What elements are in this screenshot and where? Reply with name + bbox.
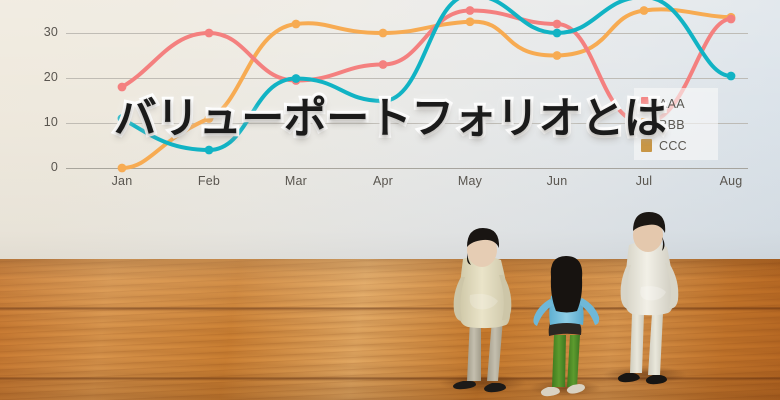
- legend-label-aaa: AAA: [659, 97, 685, 111]
- legend-item-aaa: AAA: [641, 93, 712, 114]
- legend-swatch-aaa: [641, 97, 652, 110]
- shadow-man-right: [603, 366, 687, 384]
- legend-item-ccc: CCC: [641, 135, 712, 156]
- x-tick-aug: Aug: [701, 174, 761, 188]
- legend-label-bbb: BBB: [659, 118, 685, 132]
- marker-bbb-feb: [205, 114, 214, 123]
- legend-label-ccc: CCC: [659, 139, 687, 153]
- marker-bbb-jul: [640, 6, 649, 15]
- marker-aaa-may: [466, 6, 475, 15]
- marker-aaa-apr: [379, 60, 388, 69]
- figurine-woman-center: [533, 256, 599, 396]
- marker-aaa-aug: [727, 15, 736, 24]
- figurine-man-right: [618, 212, 678, 384]
- marker-bbb-jun: [553, 51, 562, 60]
- marker-bbb-jan: [118, 164, 127, 173]
- marker-bbb-apr: [379, 29, 388, 38]
- legend-swatch-ccc: [641, 139, 652, 152]
- hair: [551, 256, 582, 313]
- chart-legend: AAA BBB CCC: [634, 88, 718, 160]
- marker-ccc-jun: [553, 29, 562, 38]
- marker-ccc-feb: [205, 146, 214, 155]
- x-tick-apr: Apr: [353, 174, 413, 188]
- figurine-man-left: [453, 228, 511, 392]
- legend-item-bbb: BBB: [641, 114, 712, 135]
- screenshot-stage: 30 20 10 0 Jan Feb Mar Apr May Jun Jul A…: [0, 0, 780, 400]
- legend-swatch-bbb: [641, 118, 652, 131]
- marker-ccc-mar: [292, 74, 301, 83]
- figurine-group: [0, 195, 780, 400]
- marker-bbb-may: [466, 17, 475, 26]
- y-tick-20: 20: [18, 70, 58, 84]
- x-tick-mar: Mar: [266, 174, 326, 188]
- x-tick-feb: Feb: [179, 174, 239, 188]
- shirt: [625, 241, 674, 315]
- x-tick-jun: Jun: [527, 174, 587, 188]
- marker-ccc-jan: [118, 114, 127, 123]
- marker-bbb-mar: [292, 20, 301, 29]
- marker-aaa-feb: [205, 29, 214, 38]
- marker-aaa-jun: [553, 20, 562, 29]
- marker-ccc-apr: [379, 97, 388, 106]
- x-tick-may: May: [440, 174, 500, 188]
- y-tick-0: 0: [18, 160, 58, 174]
- line-chart: 30 20 10 0 Jan Feb Mar Apr May Jun Jul A…: [0, 0, 780, 200]
- x-tick-jul: Jul: [614, 174, 674, 188]
- x-tick-jan: Jan: [92, 174, 152, 188]
- marker-ccc-aug: [727, 72, 736, 81]
- y-tick-10: 10: [18, 115, 58, 129]
- shadow-man-left: [439, 374, 527, 392]
- y-tick-30: 30: [18, 25, 58, 39]
- marker-aaa-jan: [118, 83, 127, 92]
